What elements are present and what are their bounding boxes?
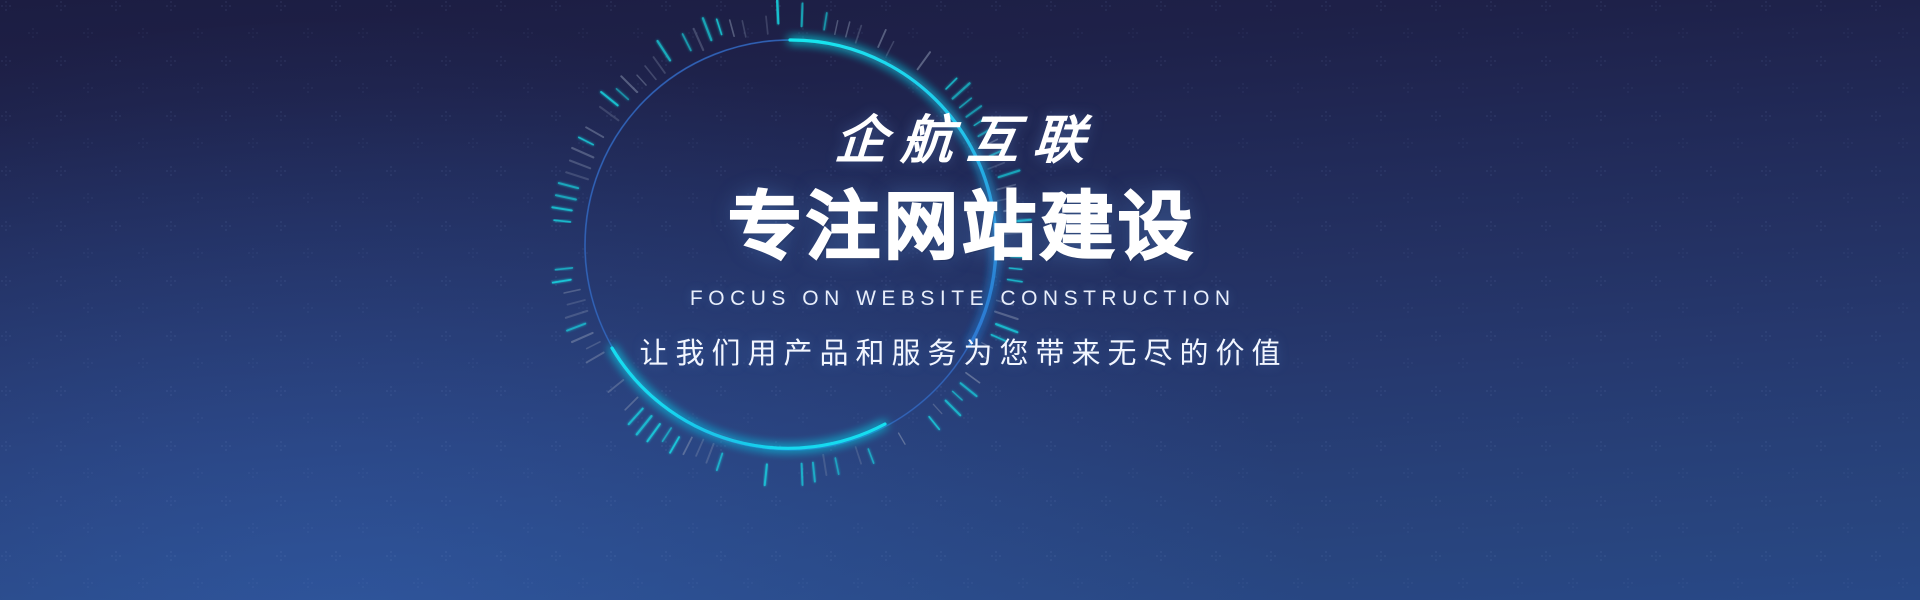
page-title: 专注网站建设 [724, 190, 1196, 264]
tagline: 让我们用产品和服务为您带来无尽的价值 [632, 339, 1287, 368]
hero-banner: 企航互联 专注网站建设 FOCUS ON WEBSITE CONSTRUCTIO… [0, 0, 1920, 600]
banner-content: 企航互联 专注网站建设 FOCUS ON WEBSITE CONSTRUCTIO… [0, 0, 1920, 600]
subtitle-english: FOCUS ON WEBSITE CONSTRUCTION [684, 288, 1235, 309]
brand-name: 企航互联 [819, 116, 1101, 168]
